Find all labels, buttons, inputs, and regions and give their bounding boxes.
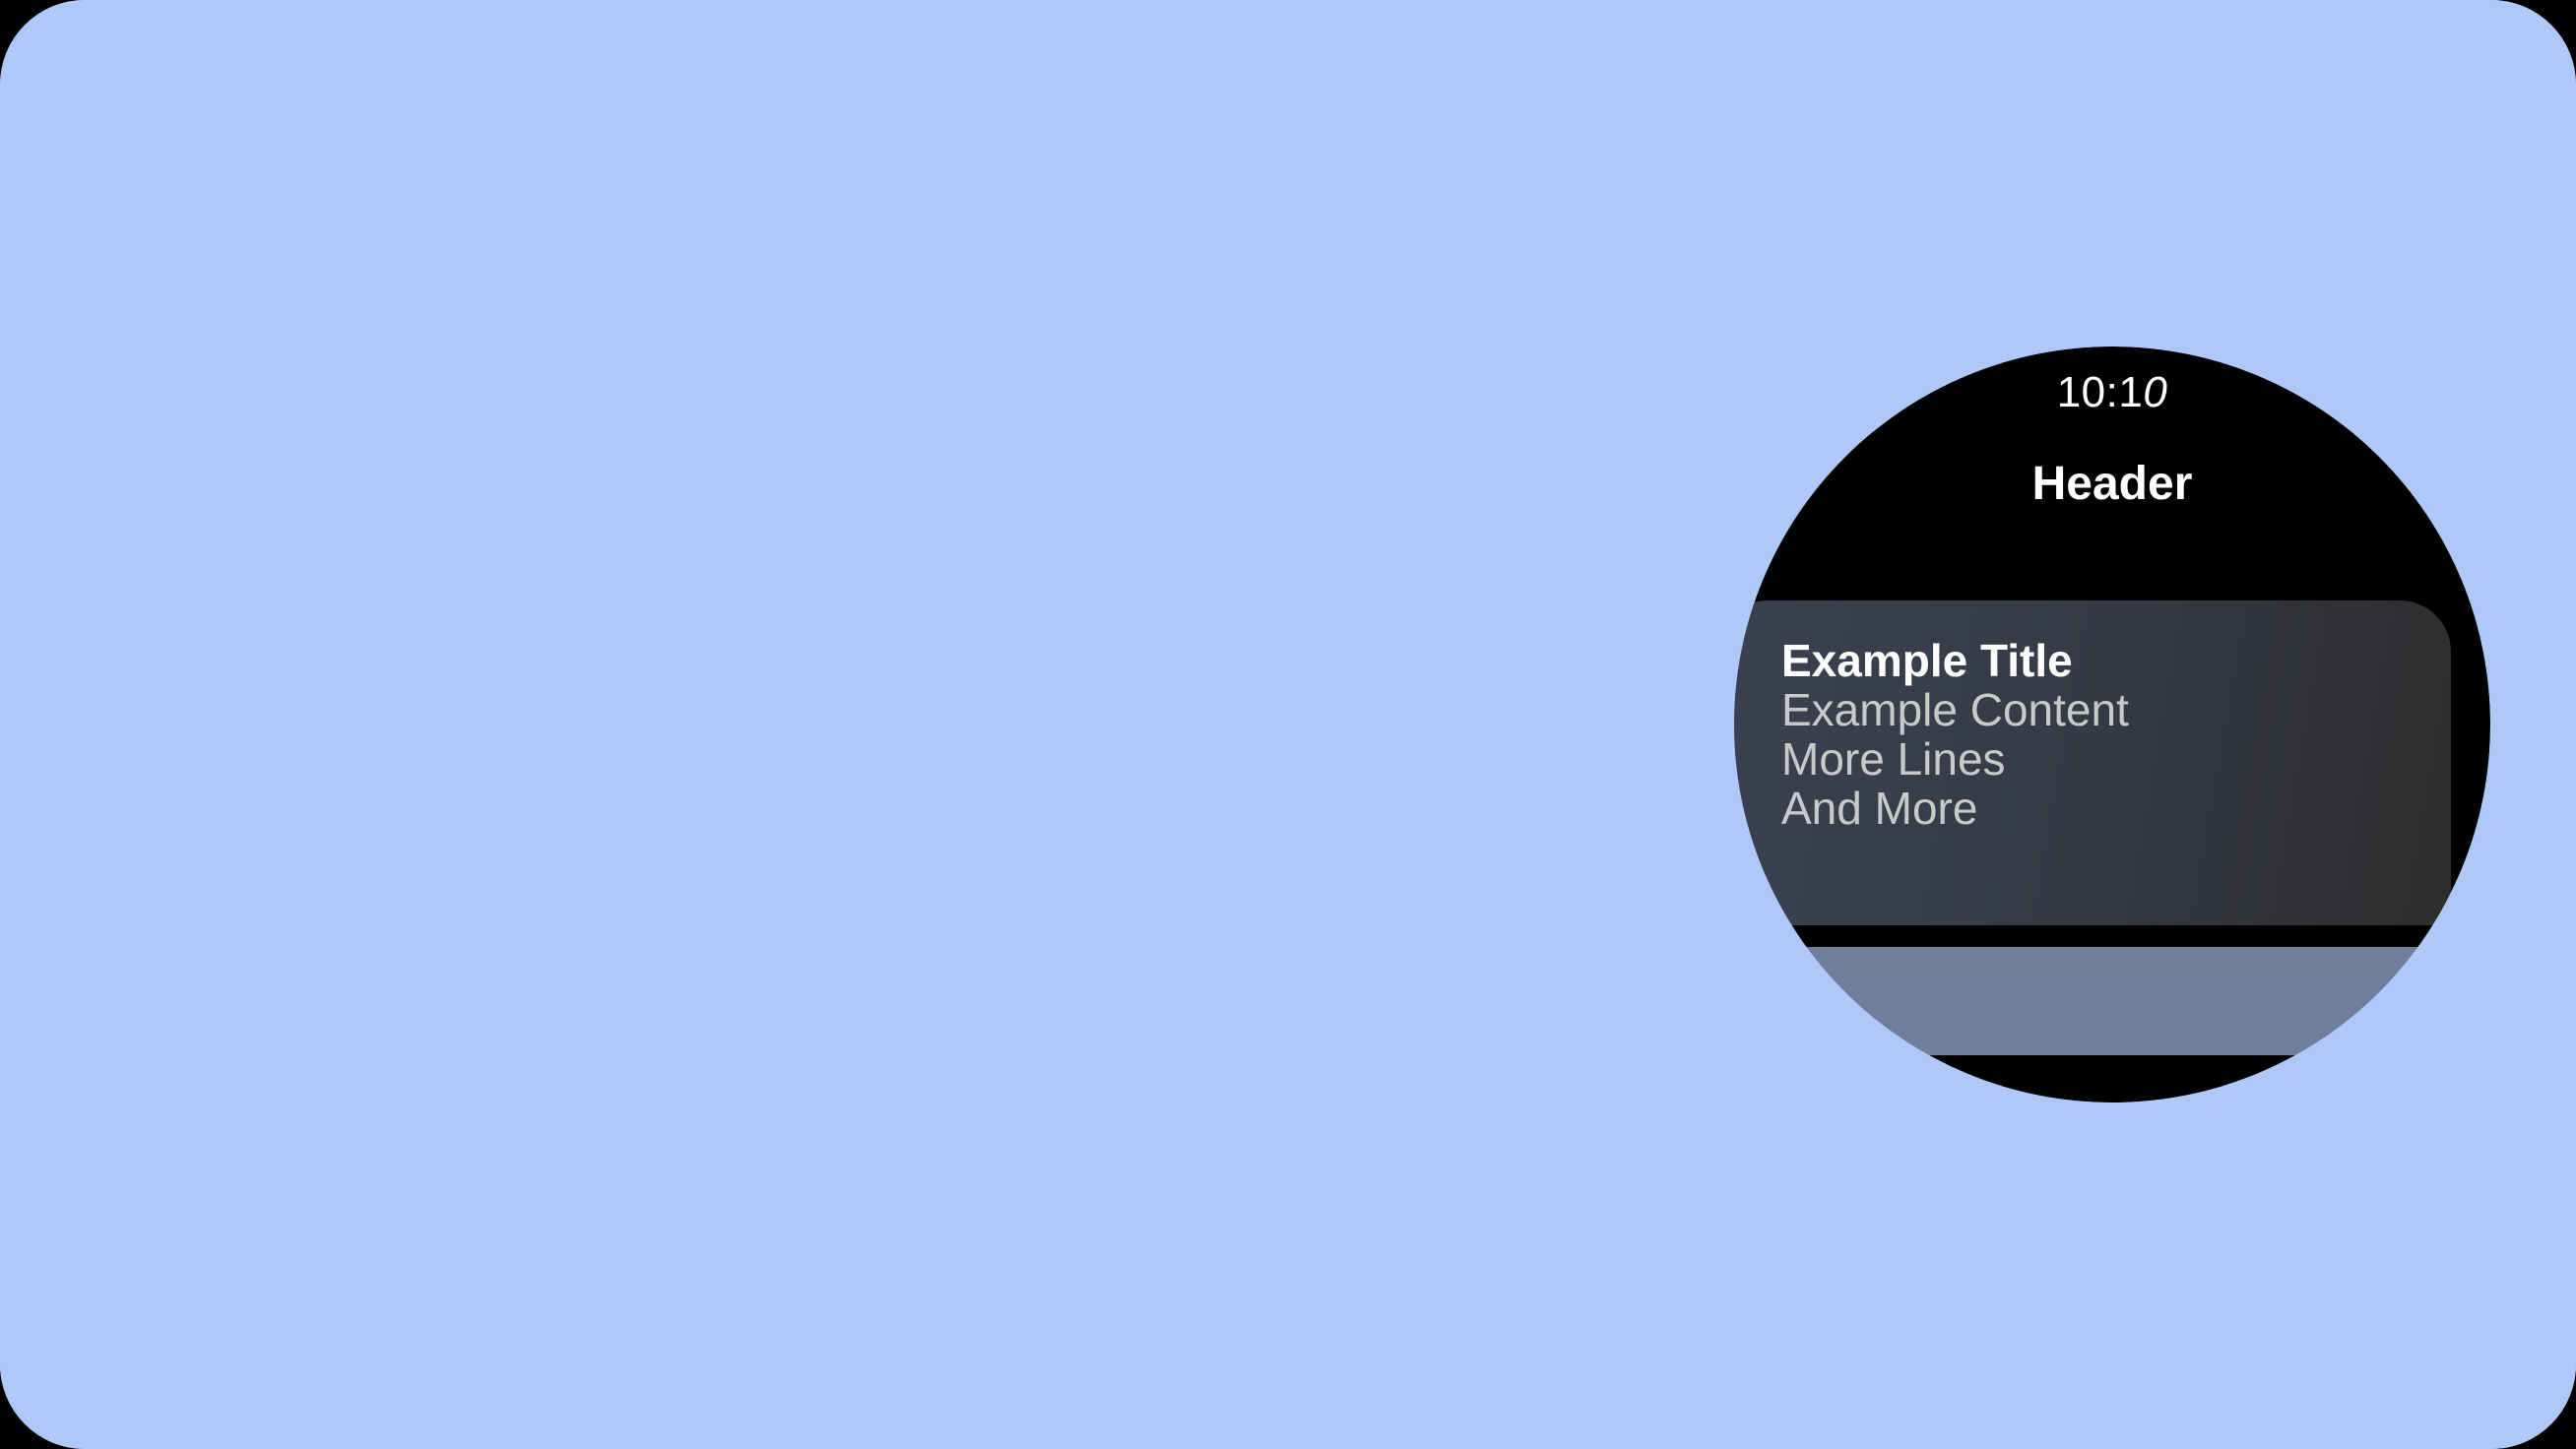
card-underline: [1716, 925, 2451, 947]
list-item-lines: Example Content More Lines And More: [1781, 685, 2433, 833]
check-icon: [1335, 754, 1412, 831]
watch-face-1: 10:10 From the Round world, Hello, scree…: [85, 346, 841, 1102]
show-list-button[interactable]: Show List: [85, 622, 794, 812]
status-time-1-italic: 0: [493, 368, 518, 416]
watch-round-hello-world: 10:10 From the Round world, Hello, scree…: [85, 346, 841, 1102]
close-icon: [1166, 757, 1237, 828]
list-item-content: Example Title Example Content More Lines…: [1781, 636, 2433, 833]
status-time-3: 10:10: [1734, 368, 2490, 417]
screenshot-canvas: 10:10 From the Round world, Hello, scree…: [0, 0, 2576, 1449]
watch-round-alert-dialog: Title An unknown error occurred during t…: [909, 346, 1665, 1102]
greeting-message: From the Round world, Hello, screenshot!: [85, 458, 841, 560]
status-time-1-value: 10:1: [408, 368, 494, 416]
list-item[interactable]: Example Title Example Content More Lines…: [1716, 600, 2451, 925]
dismiss-button[interactable]: [1122, 713, 1280, 871]
status-time-3-value: 10:1: [2057, 368, 2144, 416]
watch-round-card-list: 10:10 Header Example Title Example Conte…: [1734, 346, 2490, 1102]
list-item-title: Example Title: [1781, 636, 2433, 685]
status-time-3-italic: 0: [2143, 368, 2167, 416]
scroll-gutter[interactable]: [1716, 947, 2451, 1055]
confirm-button[interactable]: [1294, 713, 1452, 871]
status-time-1: 10:10: [85, 368, 841, 417]
watch-face-2: Title An unknown error occurred during t…: [909, 346, 1665, 1102]
dialog-title: Title: [909, 449, 1665, 506]
list-header: Header: [1734, 457, 2490, 511]
dialog-body: An unknown error occurred during the req…: [936, 522, 1638, 628]
dialog-actions: [909, 713, 1665, 871]
